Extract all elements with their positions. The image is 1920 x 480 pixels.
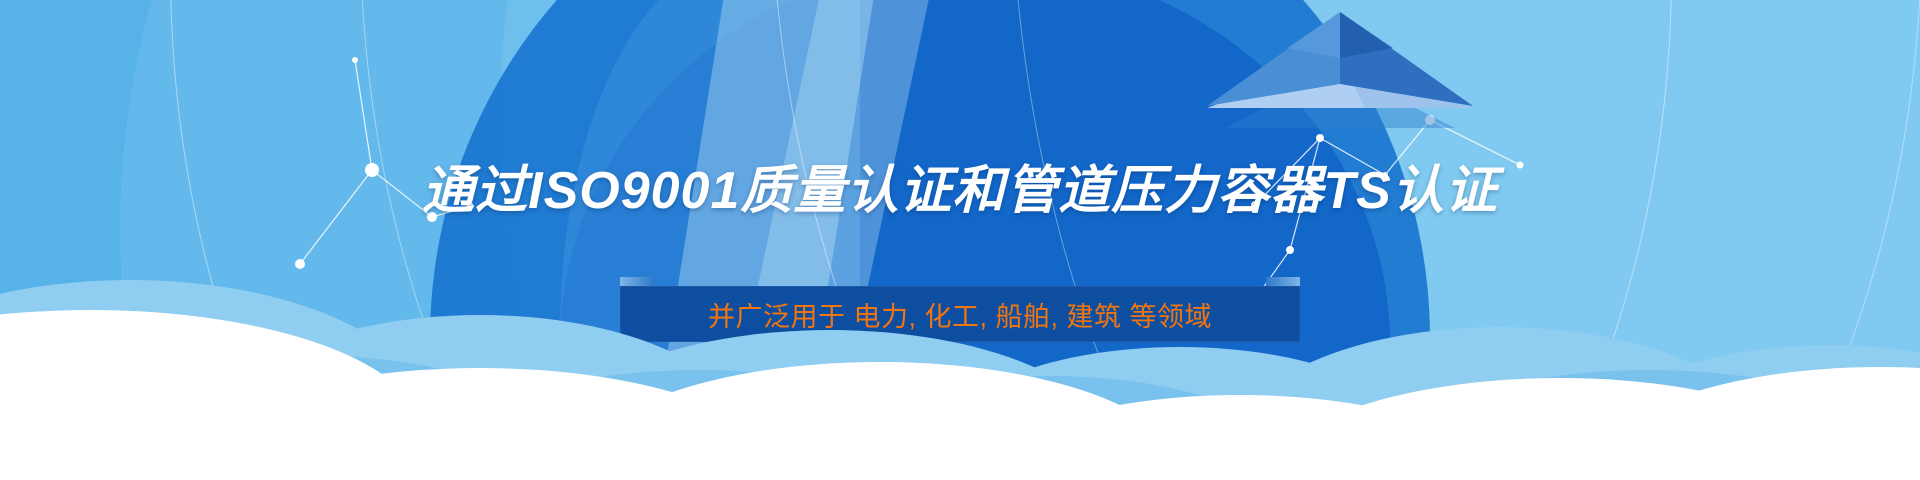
promo-banner: 通过ISO9001质量认证和管道压力容器TS认证 并广泛用于 电力, 化工, 船… (0, 0, 1920, 480)
pyramid-logo (1205, 8, 1475, 143)
page-title: 通过ISO9001质量认证和管道压力容器TS认证 (0, 148, 1920, 223)
cloud-front-layer (0, 310, 1920, 480)
cloud-band (0, 220, 1920, 480)
